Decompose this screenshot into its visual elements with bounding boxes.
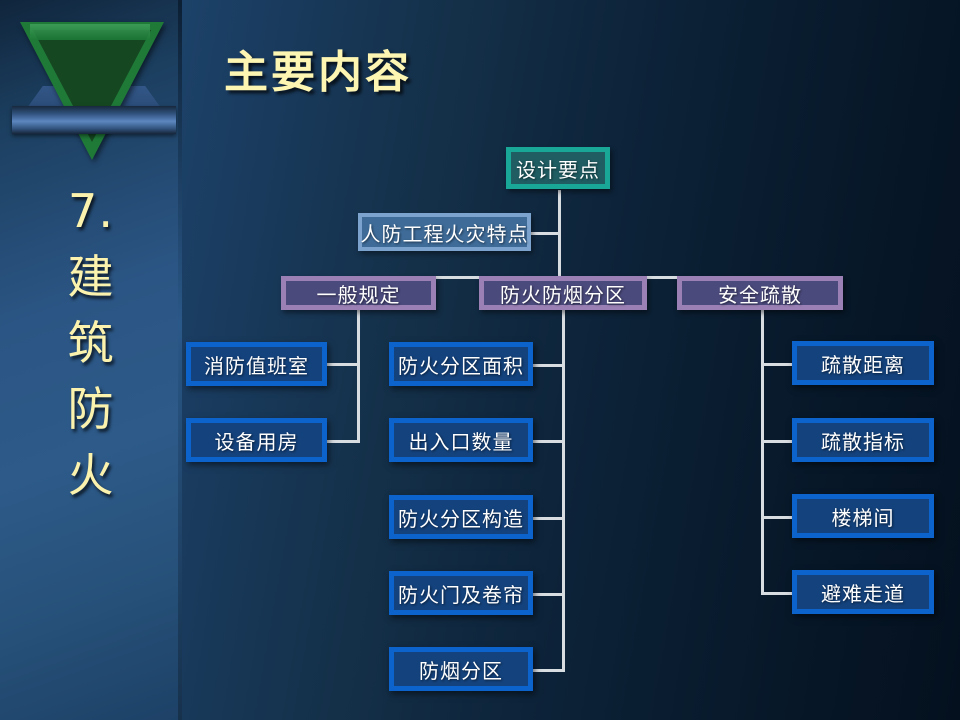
node-stairwell[interactable]: 楼梯间 [792,494,934,538]
sidebar-title-char-4: 火 [0,442,182,508]
node-fire-door-shutter-label: 防火门及卷帘 [398,579,524,608]
sidebar-title-char-2: 筑 [0,310,182,376]
sidebar-title-char-0: 7. [0,178,182,244]
node-evacuation-distance[interactable]: 疏散距离 [792,341,934,385]
green-triangle-logo [8,14,178,164]
node-branch-fire-smoke-zone-label: 防火防烟分区 [500,279,626,308]
connector-right-stub-0 [761,363,794,366]
slide-canvas: 7. 建 筑 防 火 主要内容 设计要点 人防工程火灾特点 一般规定 防火 [0,0,960,720]
node-fire-zone-structure[interactable]: 防火分区构造 [389,495,533,539]
node-refuge-corridor[interactable]: 避难走道 [792,570,934,614]
node-fire-zone-area-label: 防火分区面积 [398,350,524,379]
logo-band [12,106,176,134]
logo-triangle-highlight [30,24,150,40]
node-branch-general[interactable]: 一般规定 [281,276,436,310]
connector-center-stub-0 [532,364,565,367]
node-root-label: 设计要点 [516,154,600,183]
node-entrance-exit-count-label: 出入口数量 [409,426,514,455]
node-refuge-corridor-label: 避难走道 [821,578,905,607]
node-smoke-zone[interactable]: 防烟分区 [389,647,533,691]
node-smoke-zone-label: 防烟分区 [419,655,503,684]
sidebar: 7. 建 筑 防 火 [0,0,182,720]
connector-right-stub-1 [761,440,794,443]
node-feature[interactable]: 人防工程火灾特点 [358,213,531,251]
connector-right-stub-2 [761,516,794,519]
connector-left-trunk [357,310,360,442]
node-branch-safe-evacuation[interactable]: 安全疏散 [677,276,843,310]
page-title: 主要内容 [224,36,412,100]
node-equipment-room-label: 设备用房 [215,426,299,455]
connector-right-trunk [761,310,764,595]
node-feature-label: 人防工程火灾特点 [361,218,529,247]
connector-left-stub-0 [325,363,360,366]
node-evacuation-index[interactable]: 疏散指标 [792,418,934,462]
node-fire-duty-room[interactable]: 消防值班室 [186,342,327,386]
node-fire-zone-structure-label: 防火分区构造 [398,503,524,532]
sidebar-title-char-1: 建 [0,244,182,310]
connector-center-stub-1 [532,440,565,443]
node-branch-fire-smoke-zone[interactable]: 防火防烟分区 [479,276,647,310]
connector-center-stub-2 [532,517,565,520]
sidebar-vertical-title: 7. 建 筑 防 火 [0,178,182,508]
node-fire-door-shutter[interactable]: 防火门及卷帘 [389,571,533,615]
node-entrance-exit-count[interactable]: 出入口数量 [389,418,533,462]
node-evacuation-index-label: 疏散指标 [821,426,905,455]
connector-left-stub-1 [325,440,360,443]
node-equipment-room[interactable]: 设备用房 [186,418,327,462]
connector-center-stub-3 [532,593,565,596]
node-stairwell-label: 楼梯间 [832,502,895,531]
node-root[interactable]: 设计要点 [506,147,610,189]
connector-center-stub-4 [532,669,565,672]
sidebar-title-char-3: 防 [0,376,182,442]
node-evacuation-distance-label: 疏散距离 [821,349,905,378]
node-fire-zone-area[interactable]: 防火分区面积 [389,342,533,386]
connector-right-stub-3 [761,592,794,595]
node-branch-general-label: 一般规定 [317,279,401,308]
node-branch-safe-evacuation-label: 安全疏散 [718,279,802,308]
node-fire-duty-room-label: 消防值班室 [204,350,309,379]
